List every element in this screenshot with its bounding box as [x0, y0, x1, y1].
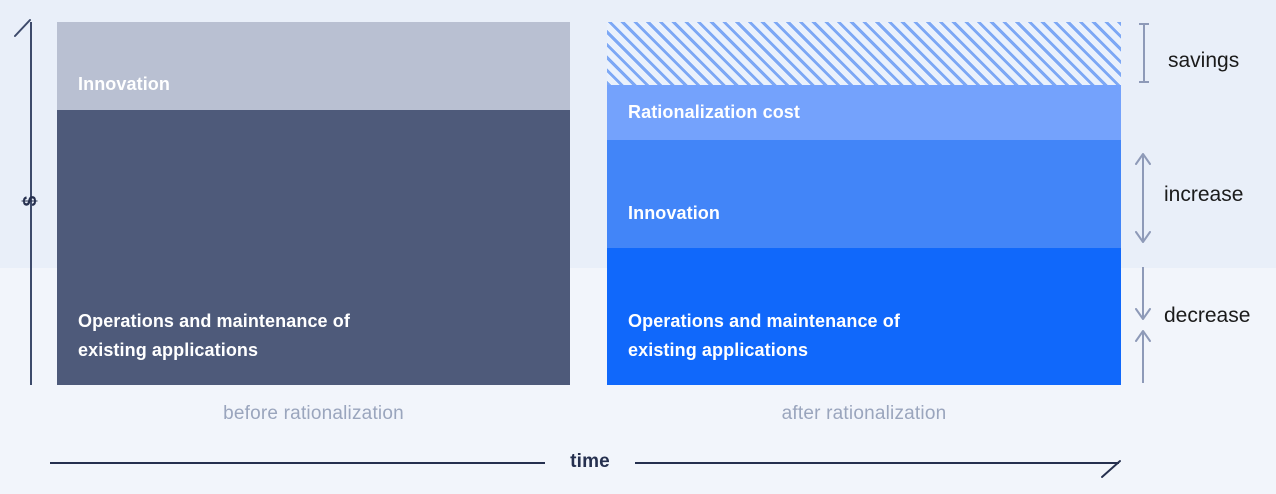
stack-before-rationalization: Innovation Operations and maintenance of…	[57, 22, 570, 385]
x-axis-line-right	[635, 462, 1119, 464]
x-axis-arrowhead-icon	[1096, 455, 1124, 479]
segment-rationalization-cost-label: Rationalization cost	[628, 98, 1105, 127]
chart-canvas: $ Innovation Operations and maintenance …	[0, 0, 1276, 494]
x-axis-label: time	[545, 451, 635, 473]
segment-operations-before-label: Operations and maintenance of existing a…	[78, 307, 554, 365]
x-axis-line-left	[50, 462, 545, 464]
caption-after-rationalization: after rationalization	[607, 403, 1121, 425]
segment-operations-after-label: Operations and maintenance of existing a…	[628, 307, 1105, 365]
segment-innovation-after[interactable]: Innovation	[607, 140, 1121, 248]
double-arrow-outward-icon	[1132, 150, 1154, 246]
double-arrow-inward-icon	[1132, 265, 1154, 385]
segment-innovation-before[interactable]: Innovation	[57, 22, 570, 110]
segment-innovation-before-label: Innovation	[78, 70, 554, 99]
segment-operations-before[interactable]: Operations and maintenance of existing a…	[57, 110, 570, 385]
segment-savings-hatched[interactable]	[607, 22, 1121, 85]
legend-label-increase: increase	[1164, 183, 1243, 207]
caption-before-rationalization: before rationalization	[57, 403, 570, 425]
legend-label-decrease: decrease	[1164, 304, 1250, 328]
y-axis-label: $	[20, 178, 42, 224]
segment-rationalization-cost[interactable]: Rationalization cost	[607, 85, 1121, 140]
stack-after-rationalization: Rationalization cost Innovation Operatio…	[607, 22, 1121, 385]
i-beam-line-icon	[1136, 22, 1152, 84]
segment-innovation-after-label: Innovation	[628, 199, 1105, 228]
legend-label-savings: savings	[1168, 49, 1239, 73]
segment-operations-after[interactable]: Operations and maintenance of existing a…	[607, 248, 1121, 385]
